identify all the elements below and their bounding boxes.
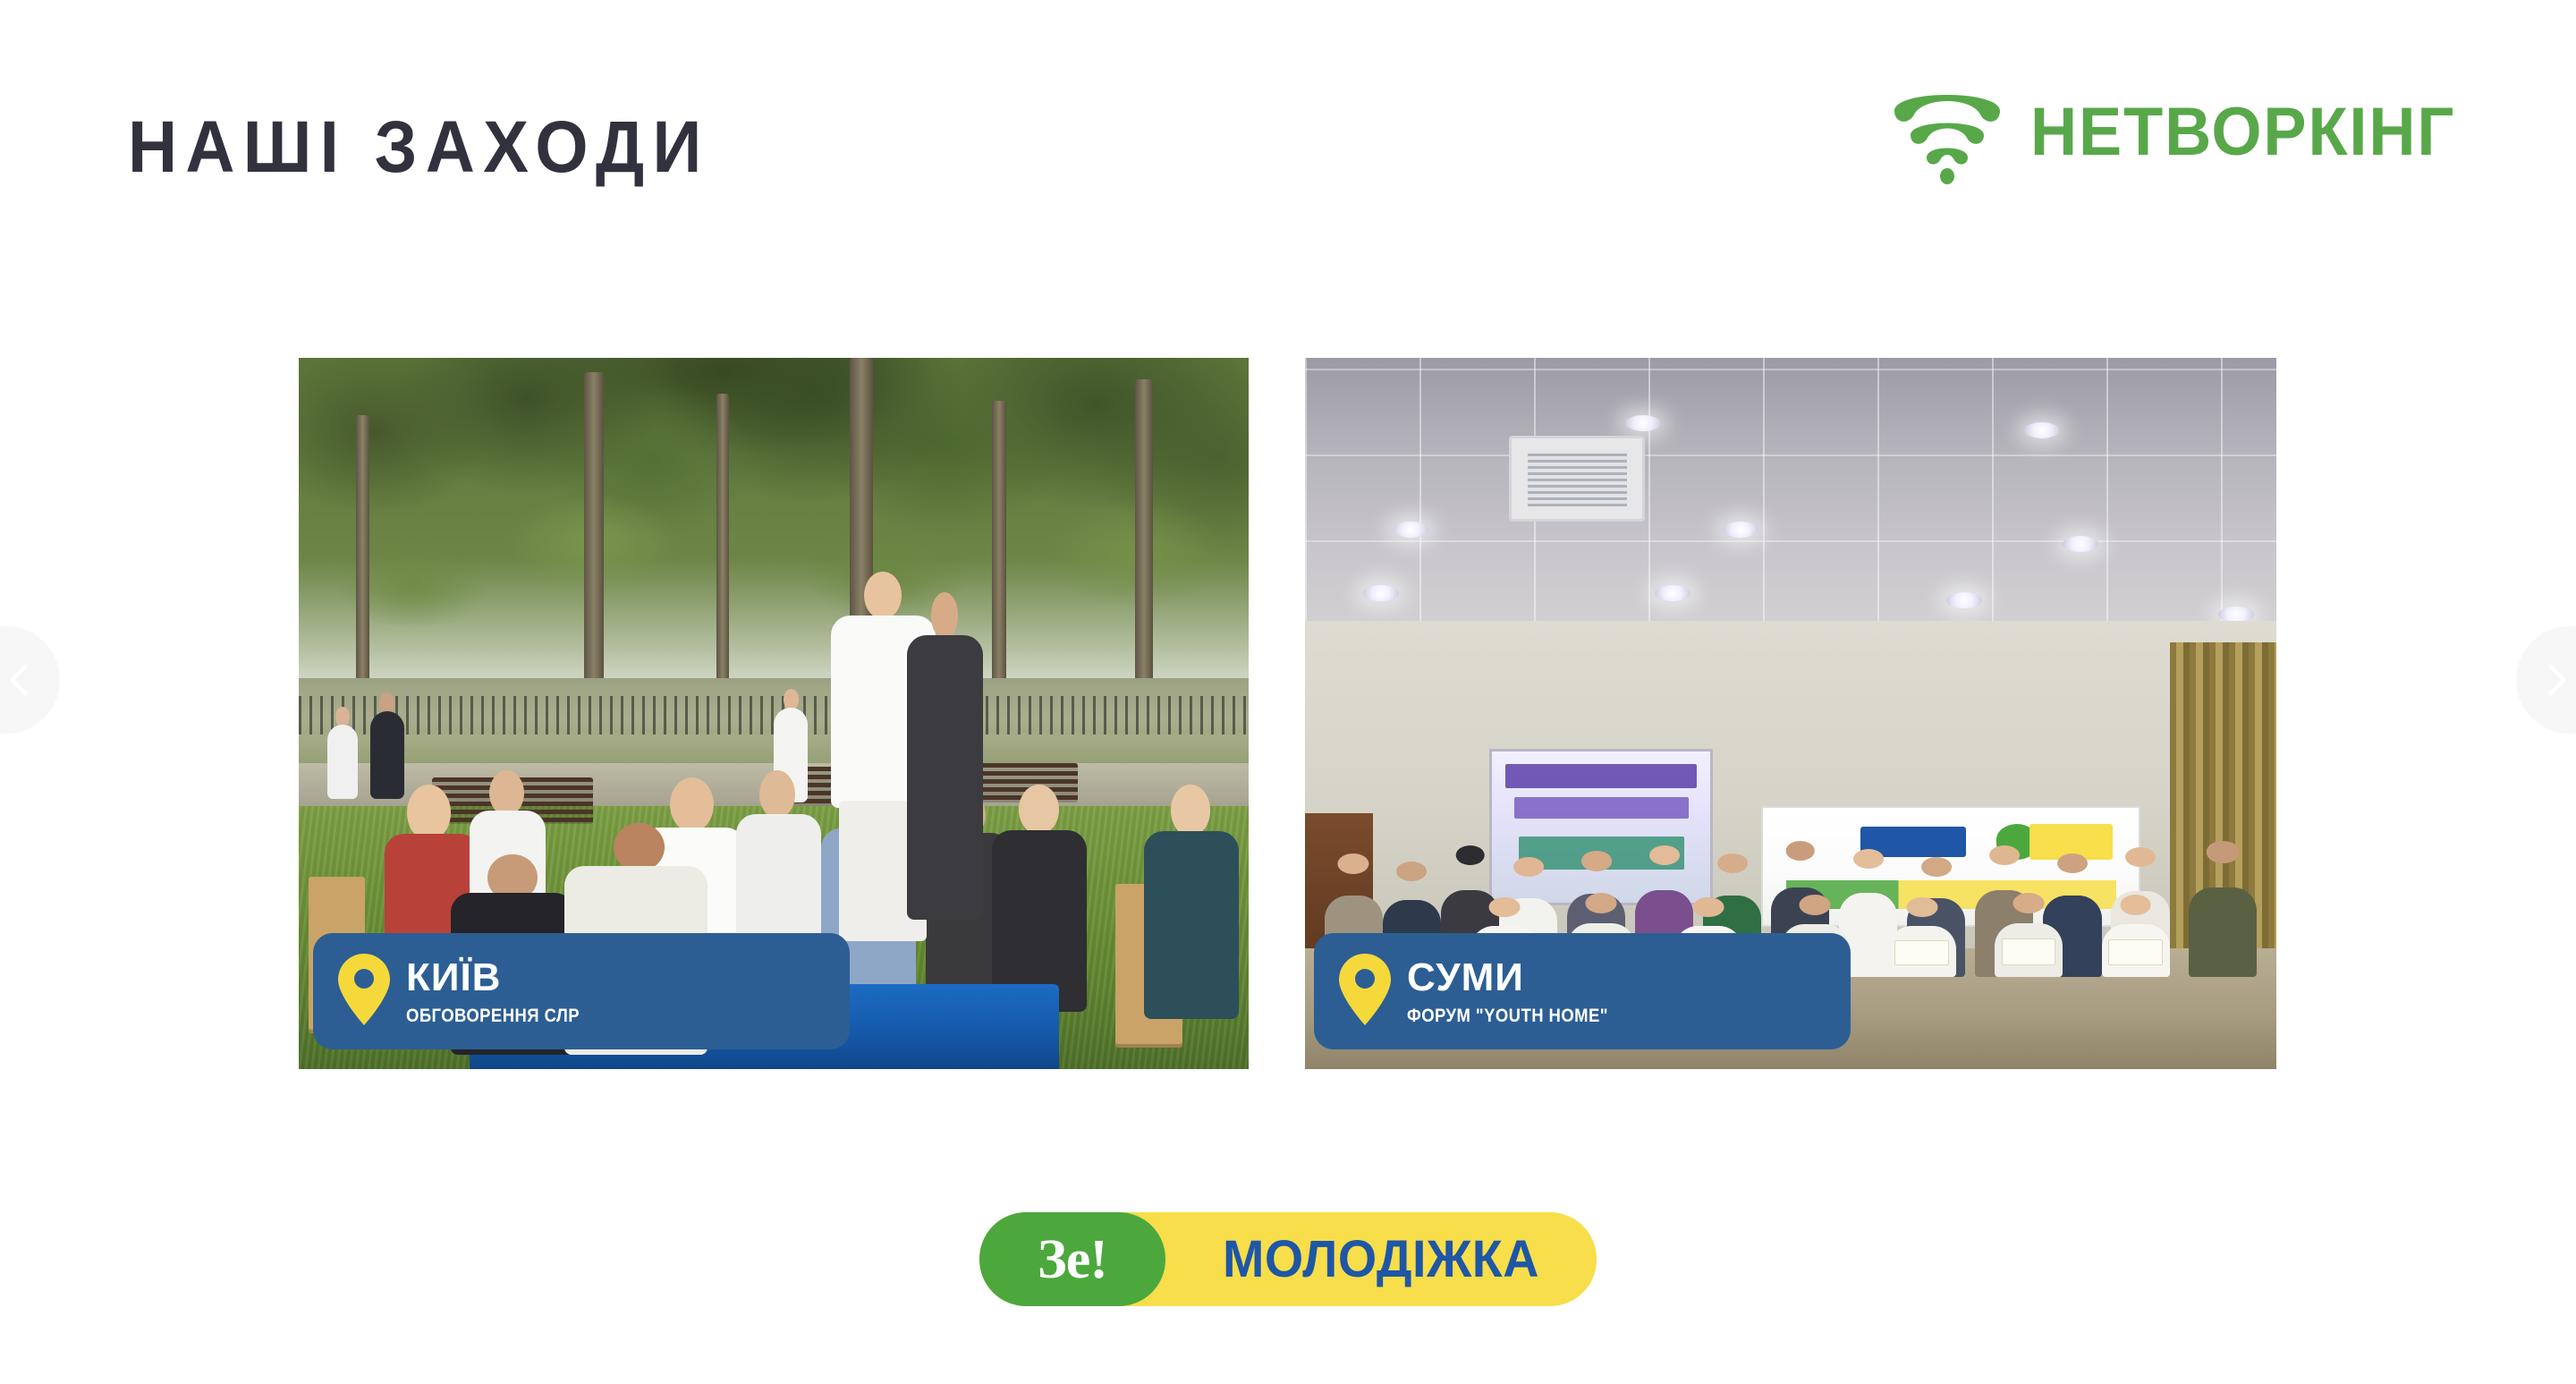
location-subtitle: ФОРУМ "YOUTH HOME" xyxy=(1407,1006,1608,1025)
event-card-sumy[interactable]: СУМИ ФОРУМ "YOUTH HOME" xyxy=(1305,358,2276,1069)
location-city: КИЇВ xyxy=(406,955,501,999)
location-badge-kyiv: КИЇВ ОБГОВОРЕННЯ СЛР xyxy=(313,933,850,1049)
location-badge-sumy: СУМИ ФОРУМ "YOUTH HOME" xyxy=(1314,933,1851,1049)
footer-logo: Зе! МОЛОДІЖКА xyxy=(979,1212,1597,1306)
logo-ze-pill: Зе! xyxy=(979,1212,1165,1306)
event-card-kyiv[interactable]: КИЇВ ОБГОВОРЕННЯ СЛР xyxy=(299,358,1249,1069)
events-carousel: КИЇВ ОБГОВОРЕННЯ СЛР xyxy=(0,0,2576,1384)
logo-ze-text: Зе! xyxy=(1038,1232,1107,1287)
logo-word: МОЛОДІЖКА xyxy=(1174,1234,1589,1286)
map-pin-icon xyxy=(1337,952,1393,1032)
location-subtitle: ОБГОВОРЕННЯ СЛР xyxy=(406,1006,580,1025)
location-city: СУМИ xyxy=(1407,955,1524,999)
map-pin-icon xyxy=(336,952,392,1032)
